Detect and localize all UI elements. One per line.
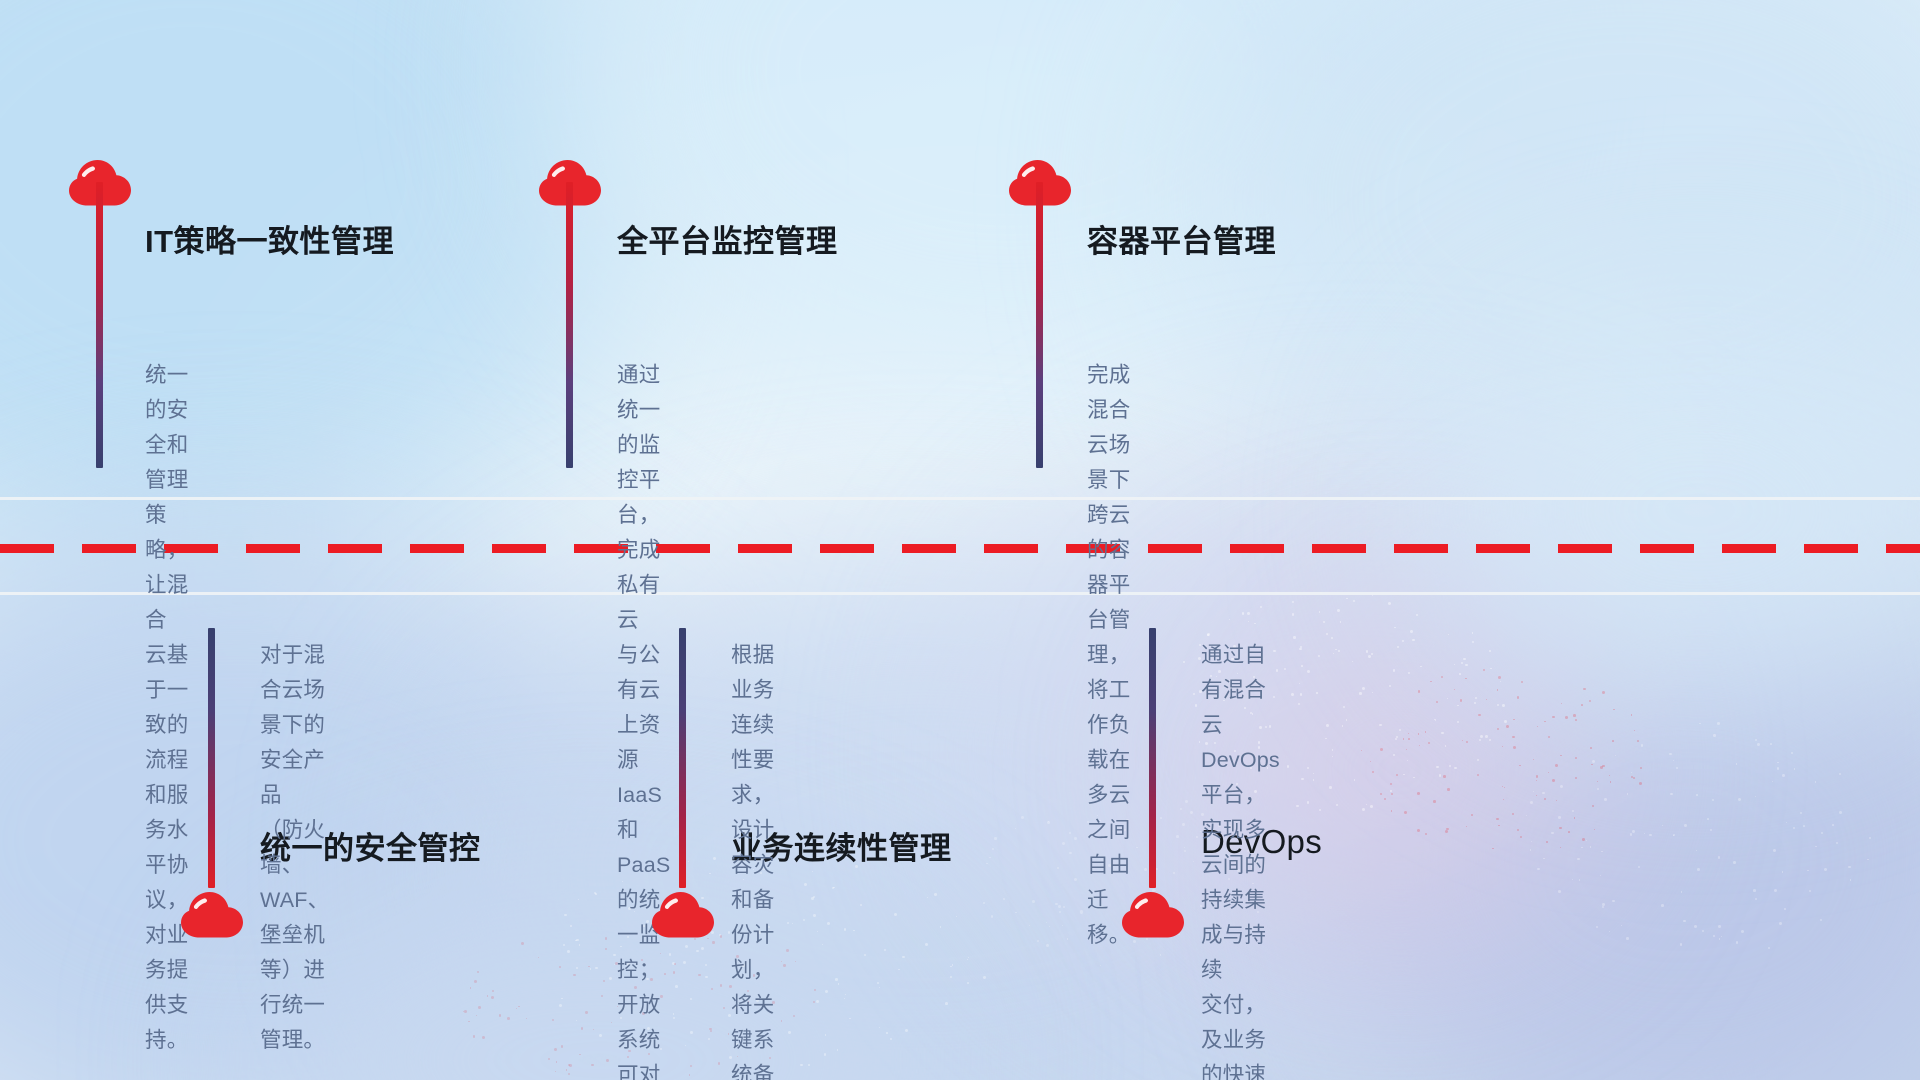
- timeline-stem: [679, 628, 686, 888]
- divider-dash: [1148, 544, 1202, 553]
- item-title: 全平台监控管理: [617, 216, 838, 261]
- divider-dash: [820, 544, 874, 553]
- dashed-divider: [0, 544, 1920, 553]
- divider-dash: [902, 544, 956, 553]
- divider-dash: [1476, 544, 1530, 553]
- item-title: 容器平台管理: [1087, 216, 1276, 261]
- infographic-canvas: IT策略一致性管理统一的安全和管理策略，让混合 云基于一致的流程和服务水平协 议…: [0, 0, 1920, 1080]
- item-title: IT策略一致性管理: [145, 216, 394, 261]
- timeline-stem: [208, 628, 215, 888]
- divider-dash: [82, 544, 136, 553]
- divider-dash: [1804, 544, 1858, 553]
- divider-dash: [738, 544, 792, 553]
- cloud-icon-glyph: [652, 892, 714, 938]
- divider-dash: [1230, 544, 1284, 553]
- item-description: 统一的安全和管理策略，让混合 云基于一致的流程和服务水平协 议，对业务提供支持。: [145, 358, 188, 1058]
- divider-dash: [1312, 544, 1366, 553]
- divider-dash: [1558, 544, 1612, 553]
- item-description: 对于混合云场景下的安全产品 （防火墙、WAF、堡垒机等）进 行统一管理。: [260, 638, 329, 1058]
- item-description: 根据业务连续性要求，设计容灾 和备份计划，将关键系统备份至 线上/线下，并定期校…: [731, 638, 774, 1080]
- divider-dash: [492, 544, 546, 553]
- timeline-stem: [566, 182, 573, 468]
- divider-dash: [984, 544, 1038, 553]
- divider-line-upper: [0, 497, 1920, 500]
- cloud-icon: [652, 892, 714, 938]
- cloud-icon-glyph: [181, 892, 243, 938]
- divider-dash: [328, 544, 382, 553]
- item-description: 通过自有混合云DevOps平台， 实现多云间的持续集成与持续 交付，及业务的快速…: [1201, 638, 1280, 1080]
- divider-dash: [1886, 544, 1920, 553]
- cloud-icon: [181, 892, 243, 938]
- timeline-stem: [1036, 182, 1043, 468]
- divider-dash: [1722, 544, 1776, 553]
- divider-dash: [246, 544, 300, 553]
- cloud-icon-glyph: [1122, 892, 1184, 938]
- divider-dash: [0, 544, 54, 553]
- timeline-stem: [96, 182, 103, 468]
- cloud-icon: [1122, 892, 1184, 938]
- divider-dash: [1640, 544, 1694, 553]
- item-description: 完成混合云场景下跨云的容器平 台管理，将工作负载在多云之间 自由迁移。: [1087, 358, 1130, 953]
- item-description: 通过统一的监控平台，完成私有云 与公有云上资源IaaS和PaaS的统 一监控；开…: [617, 358, 670, 1080]
- timeline-stem: [1149, 628, 1156, 888]
- divider-line-lower: [0, 592, 1920, 595]
- divider-dash: [410, 544, 464, 553]
- divider-dash: [1394, 544, 1448, 553]
